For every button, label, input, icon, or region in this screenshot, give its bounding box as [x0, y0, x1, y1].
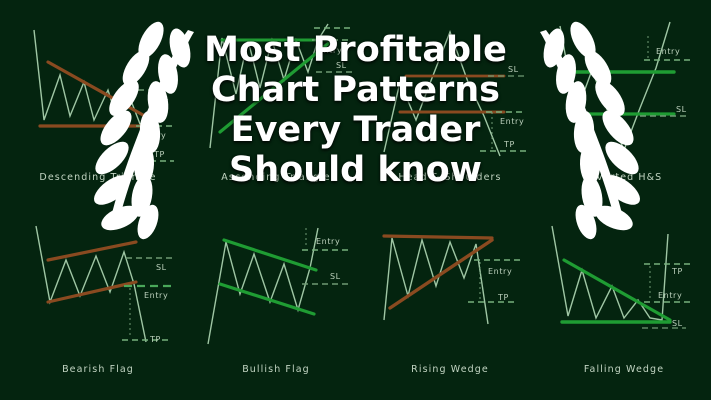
sl-label: SL — [508, 65, 519, 74]
pattern-card-descending-triangle: SL Entry TP Descending Triangle — [18, 20, 178, 195]
entry-label: Entry — [318, 46, 342, 55]
wedge-upper-line — [564, 260, 670, 320]
ascending-support-line — [220, 42, 330, 132]
tp-label: TP — [497, 293, 509, 302]
pattern-title-bullish-flag: Bullish Flag — [196, 364, 356, 375]
pattern-title-descending-triangle: Descending Triangle — [18, 172, 178, 183]
price-line — [384, 238, 488, 324]
pattern-title-rising-wedge: Rising Wedge — [370, 364, 530, 375]
falling-wedge-chart: TP Entry SL — [544, 224, 704, 354]
rising-wedge-chart: Entry TP — [370, 224, 530, 354]
entry-label: Entry — [658, 291, 682, 300]
bearish-flag-chart: SL Entry TP — [18, 224, 178, 354]
entry-label: Entry — [142, 131, 166, 140]
pattern-card-falling-wedge: TP Entry SL Falling Wedge — [544, 224, 704, 374]
bullish-flag-chart: Entry SL — [196, 224, 356, 354]
sl-label: SL — [672, 319, 683, 328]
sl-label: SL — [330, 272, 341, 281]
sl-label: SL — [336, 61, 347, 70]
sl-label: SL — [158, 93, 169, 102]
head-and-shoulders-chart: SL Entry TP — [370, 20, 530, 170]
price-line — [210, 24, 328, 148]
price-line — [560, 22, 670, 150]
pattern-title-falling-wedge: Falling Wedge — [544, 364, 704, 375]
pattern-title-ascending-triangle: Ascending Triangle — [196, 172, 356, 183]
pattern-card-inverted-head-and-shoulders: Entry SL Inverted H&S — [544, 20, 704, 195]
channel-upper-line — [224, 240, 316, 270]
tp-label: TP — [671, 267, 683, 276]
channel-lower-line — [48, 282, 136, 302]
tp-label: TP — [153, 150, 165, 159]
pattern-title-inverted-head-and-shoulders: Inverted H&S — [544, 172, 704, 183]
wedge-upper-line — [384, 236, 492, 238]
poster-canvas: SL Entry TP Descending Triangle Entry SL… — [0, 0, 711, 400]
price-line — [552, 226, 668, 320]
entry-label: Entry — [488, 267, 512, 276]
price-line — [384, 32, 500, 156]
tp-label: TP — [503, 140, 515, 149]
channel-lower-line — [220, 284, 314, 314]
pattern-card-head-and-shoulders: SL Entry TP Head & Shoulders — [370, 20, 530, 195]
entry-label: Entry — [144, 291, 168, 300]
entry-label: Entry — [316, 237, 340, 246]
sl-label: SL — [156, 263, 167, 272]
inverted-head-and-shoulders-chart: Entry SL — [544, 20, 704, 170]
sl-label: SL — [676, 105, 687, 114]
descending-triangle-chart: SL Entry TP — [18, 20, 178, 170]
pattern-title-bearish-flag: Bearish Flag — [18, 364, 178, 375]
entry-label: Entry — [500, 117, 524, 126]
pattern-title-head-and-shoulders: Head & Shoulders — [370, 172, 530, 183]
tp-label: TP — [149, 335, 161, 344]
pattern-card-rising-wedge: Entry TP Rising Wedge — [370, 224, 530, 374]
ascending-triangle-chart: Entry SL — [196, 20, 356, 170]
entry-label: Entry — [656, 47, 680, 56]
pattern-card-bearish-flag: SL Entry TP Bearish Flag — [18, 224, 178, 374]
wedge-lower-line — [390, 240, 492, 308]
pattern-card-bullish-flag: Entry SL Bullish Flag — [196, 224, 356, 374]
pattern-card-ascending-triangle: Entry SL Ascending Triangle — [196, 20, 356, 195]
